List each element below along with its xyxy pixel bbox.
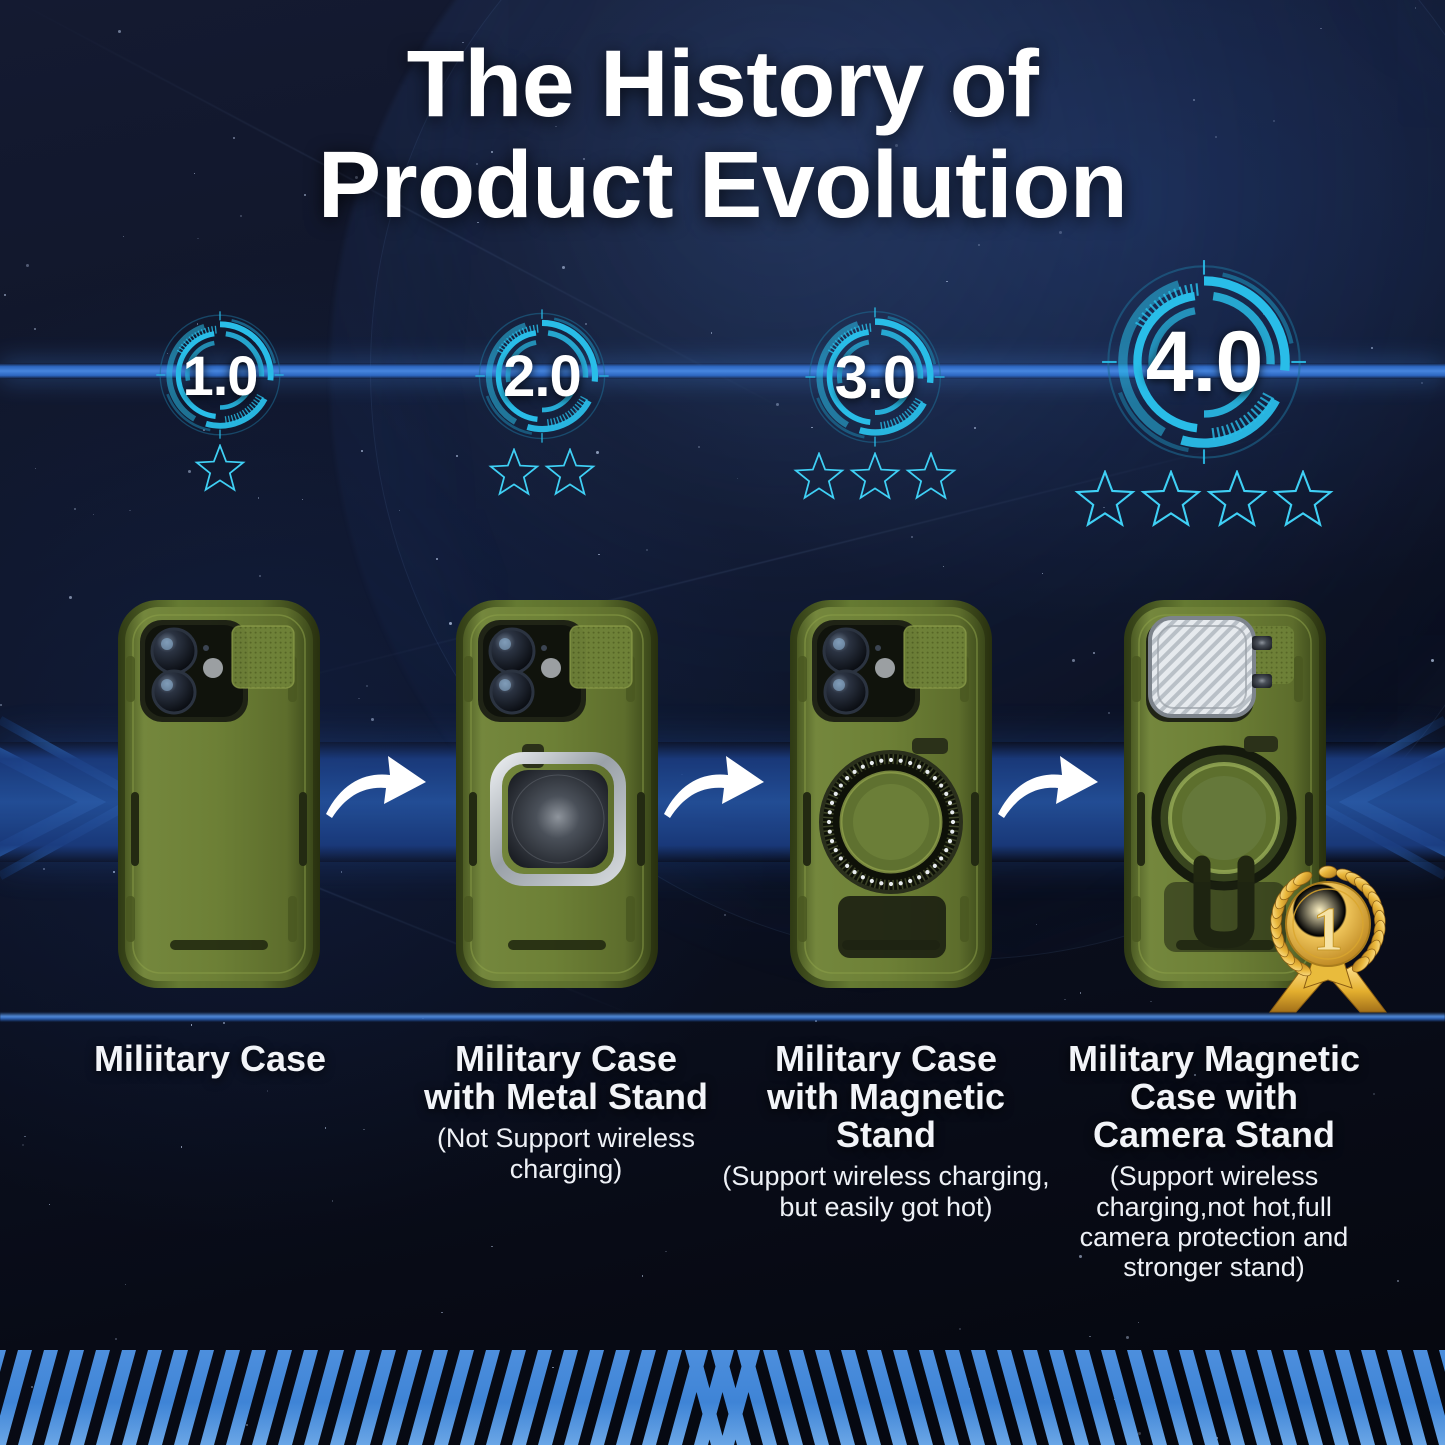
title-line-2: Product Evolution bbox=[0, 135, 1445, 236]
gold-medal-icon: 1 bbox=[1252, 862, 1404, 1018]
hud-dial-icon: 1.0 bbox=[155, 310, 285, 440]
version-number: 4.0 bbox=[1100, 258, 1308, 466]
rating-stars bbox=[382, 448, 702, 505]
star-icon bbox=[194, 444, 246, 501]
caption-title: Military MagneticCase withCamera Stand bbox=[1044, 1040, 1384, 1154]
star-icon bbox=[1272, 470, 1334, 537]
caption-note-line: charging) bbox=[401, 1154, 731, 1184]
product-3-caption: Military Casewith MagneticStand(Support … bbox=[721, 1040, 1051, 1222]
product-2-caption: Military Casewith Metal Stand(Not Suppor… bbox=[401, 1040, 731, 1184]
evolution-arrow-2-icon bbox=[658, 742, 770, 828]
caption-note-line: (Not Support wireless bbox=[401, 1123, 731, 1153]
caption-title: Miliitary Case bbox=[45, 1040, 375, 1078]
caption-title-line: Military Magnetic bbox=[1044, 1040, 1384, 1078]
product-1-caption: Miliitary Case bbox=[45, 1040, 375, 1078]
caption-title-line: Case with bbox=[1044, 1078, 1384, 1116]
title-line-1: The History of bbox=[0, 34, 1445, 135]
star-icon bbox=[544, 448, 596, 505]
hud-dial-icon: 2.0 bbox=[474, 308, 610, 444]
product-2-image bbox=[452, 596, 662, 992]
medal-number: 1 bbox=[1313, 896, 1344, 964]
version-badge-row: 1.02.03.04.0 bbox=[0, 250, 1445, 550]
caption-title: Military Casewith Metal Stand bbox=[401, 1040, 731, 1116]
star-icon bbox=[488, 448, 540, 505]
hud-dial-icon: 3.0 bbox=[804, 306, 946, 448]
rating-stars bbox=[1044, 470, 1364, 537]
star-icon bbox=[793, 452, 845, 509]
evolution-arrow-1-icon bbox=[320, 742, 432, 828]
version-number: 2.0 bbox=[474, 308, 610, 444]
caption-note-line: charging,not hot,full bbox=[1044, 1192, 1384, 1222]
star-icon bbox=[1140, 470, 1202, 537]
version-badge-2-0: 2.0 bbox=[382, 308, 702, 505]
star-icon bbox=[849, 452, 901, 509]
caption-title-line: with Magnetic bbox=[721, 1078, 1051, 1116]
caption-title-line: Military Case bbox=[401, 1040, 731, 1078]
caption-note: (Not Support wirelesscharging) bbox=[401, 1123, 731, 1183]
product-3-image bbox=[786, 596, 996, 992]
version-badge-1-0: 1.0 bbox=[60, 310, 380, 501]
star-icon bbox=[1074, 470, 1136, 537]
caption-note-line: but easily got hot) bbox=[721, 1192, 1051, 1222]
caption-title-line: Military Case bbox=[721, 1040, 1051, 1078]
product-1-image bbox=[114, 596, 324, 992]
page-title: The History of Product Evolution bbox=[0, 34, 1445, 235]
bottom-chevron-band bbox=[0, 1332, 1445, 1445]
caption-note-line: stronger stand) bbox=[1044, 1252, 1384, 1282]
caption-title-line: Stand bbox=[721, 1116, 1051, 1154]
caption-note-line: (Support wireless charging, bbox=[721, 1161, 1051, 1191]
version-badge-4-0: 4.0 bbox=[1044, 258, 1364, 537]
evolution-arrow-3-icon bbox=[992, 742, 1104, 828]
caption-note: (Support wireless charging,but easily go… bbox=[721, 1161, 1051, 1221]
product-captions: Miliitary CaseMilitary Casewith Metal St… bbox=[0, 1040, 1445, 1340]
star-icon bbox=[1206, 470, 1268, 537]
product-4-caption: Military MagneticCase withCamera Stand(S… bbox=[1044, 1040, 1384, 1282]
caption-title: Military Casewith MagneticStand bbox=[721, 1040, 1051, 1154]
version-badge-3-0: 3.0 bbox=[715, 306, 1035, 509]
rating-stars bbox=[60, 444, 380, 501]
caption-title-line: with Metal Stand bbox=[401, 1078, 731, 1116]
caption-note-line: (Support wireless bbox=[1044, 1161, 1384, 1191]
rating-stars bbox=[715, 452, 1035, 509]
caption-note-line: camera protection and bbox=[1044, 1222, 1384, 1252]
version-number: 1.0 bbox=[155, 310, 285, 440]
caption-title-line: Miliitary Case bbox=[45, 1040, 375, 1078]
star-icon bbox=[905, 452, 957, 509]
bottom-stripes-icon bbox=[0, 1332, 1445, 1445]
version-number: 3.0 bbox=[804, 306, 946, 448]
caption-title-line: Camera Stand bbox=[1044, 1116, 1384, 1154]
caption-note: (Support wirelesscharging,not hot,fullca… bbox=[1044, 1161, 1384, 1282]
hud-dial-icon: 4.0 bbox=[1100, 258, 1308, 466]
